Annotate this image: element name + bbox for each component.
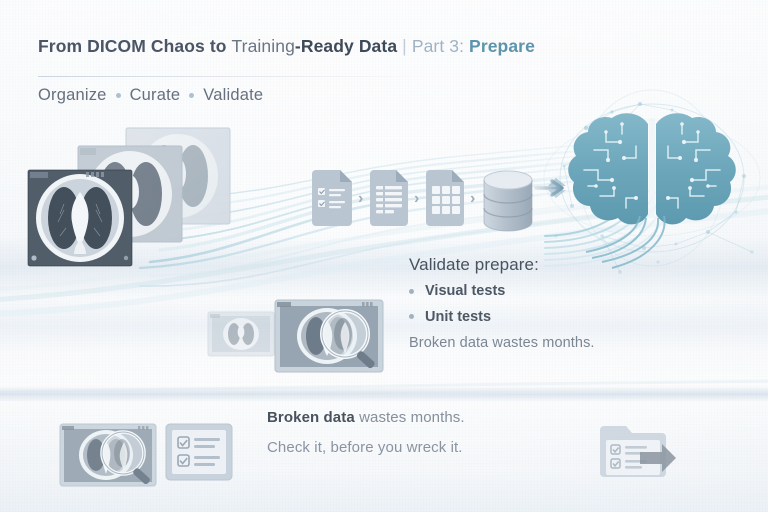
ct-viewer-magnifier[interactable] xyxy=(275,300,383,372)
page-title: From DICOM Chaos to Training-Ready Data|… xyxy=(38,36,698,57)
bullet-dot-icon xyxy=(409,289,414,294)
subtitle-bullet-icon-2 xyxy=(189,93,194,98)
pipeline-chevron-2: › xyxy=(414,190,419,207)
bullet-dot-icon xyxy=(409,314,414,319)
ct-slice-front xyxy=(28,170,132,266)
checklist-card-icon[interactable] xyxy=(166,424,232,480)
footer-line-1-strong: Broken data xyxy=(267,409,355,426)
title-divider xyxy=(38,76,430,77)
validate-panel-note: Broken data wastes months. xyxy=(409,335,709,351)
document-grid-icon[interactable] xyxy=(426,170,464,226)
poster-canvas: › › xyxy=(0,0,768,512)
ct-thumbnail-small[interactable] xyxy=(208,312,274,356)
title-segment-1: From DICOM Chaos to xyxy=(38,36,232,56)
title-separator: | xyxy=(397,36,412,56)
title-segment-2: Training xyxy=(232,36,295,56)
pipeline-chevron-1: › xyxy=(358,190,363,207)
list-item: Visual tests xyxy=(409,284,709,299)
subtitle-bullet-icon-1 xyxy=(116,93,121,98)
validate-panel-heading: Validate prepare: xyxy=(409,255,709,275)
document-lines-icon[interactable] xyxy=(370,170,408,226)
footer-line-1: Broken data wastes months. xyxy=(267,409,597,426)
validate-panel-list: Visual tests Unit tests xyxy=(409,284,709,324)
subtitle-step-validate: Validate xyxy=(203,86,263,105)
title-part-label: Part 3: xyxy=(412,36,464,56)
brain-circuit-icon xyxy=(568,113,736,268)
folder-checklist-arrow-icon[interactable] xyxy=(600,426,676,477)
document-checklist-icon[interactable] xyxy=(312,170,352,226)
ct-scan-magnifier-icon[interactable] xyxy=(60,424,156,486)
title-part-value: Prepare xyxy=(469,36,535,56)
footer-line-1-rest: wastes months. xyxy=(355,409,465,426)
poster-header: From DICOM Chaos to Training-Ready Data|… xyxy=(38,36,698,57)
database-cylinder-icon[interactable] xyxy=(484,171,532,231)
footer-wash-ribbons xyxy=(0,381,768,400)
footer-line-2: Check it, before you wreck it. xyxy=(267,439,597,456)
review-row xyxy=(208,300,383,372)
list-item-label: Visual tests xyxy=(425,284,505,299)
pipeline-chevron-3: › xyxy=(470,190,475,207)
subtitle-step-organize: Organize xyxy=(38,86,107,105)
list-item: Unit tests xyxy=(409,310,709,325)
validate-panel: Validate prepare: Visual tests Unit test… xyxy=(409,255,709,351)
subtitle-steps: Organize Curate Validate xyxy=(38,86,263,105)
footer-copy: Broken data wastes months. Check it, bef… xyxy=(267,409,597,456)
list-item-label: Unit tests xyxy=(425,310,491,325)
subtitle-step-curate: Curate xyxy=(130,86,181,105)
title-segment-3: -Ready Data xyxy=(295,36,397,56)
